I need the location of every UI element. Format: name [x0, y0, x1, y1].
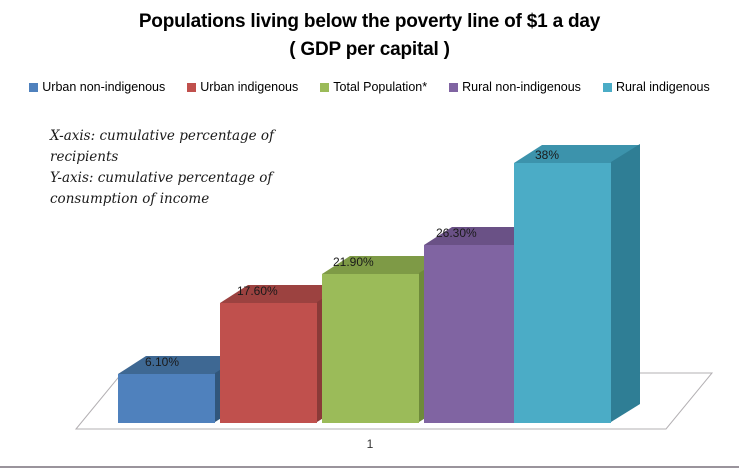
bar-front-face	[118, 374, 215, 423]
bar-label-rural-non-indigenous: 26.30%	[436, 226, 477, 240]
bar-front-face	[514, 163, 611, 423]
bar-front-face	[322, 274, 419, 423]
bar-front-face	[424, 245, 521, 423]
bar-rural-indigenous[interactable]	[514, 145, 611, 423]
bar-total-population[interactable]	[322, 256, 419, 423]
plot-area: 6.10% 17.60%	[0, 0, 739, 468]
category-axis-label: 1	[300, 437, 440, 451]
bar-top-face	[514, 145, 611, 163]
bar-urban-indigenous[interactable]	[220, 285, 317, 423]
bar-label-urban-indigenous: 17.60%	[237, 284, 278, 298]
bar-side-face	[611, 163, 640, 423]
bar-label-total-population: 21.90%	[333, 255, 374, 269]
bar-label-rural-indigenous: 38%	[535, 148, 559, 162]
bars-layer: 6.10% 17.60%	[0, 0, 739, 468]
chart-container: Populations living below the poverty lin…	[0, 0, 739, 468]
bar-rural-non-indigenous[interactable]	[424, 227, 521, 423]
bar-label-urban-non-indigenous: 6.10%	[145, 355, 179, 369]
bar-front-face	[220, 303, 317, 423]
